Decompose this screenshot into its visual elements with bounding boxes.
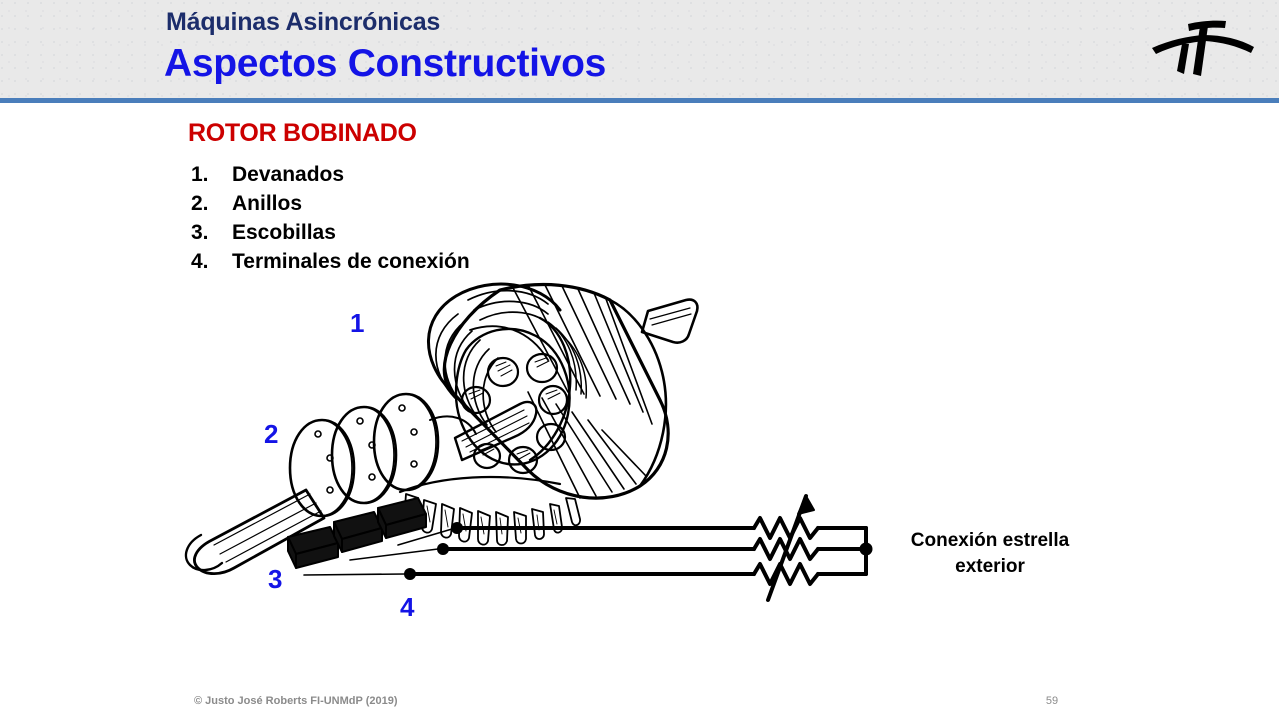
callout-4: 4: [400, 592, 414, 623]
fan-teeth: [400, 477, 580, 545]
variable-resistors: [754, 518, 818, 584]
slide-canvas: Máquinas Asincrónicas Aspectos Construct…: [0, 0, 1279, 720]
callout-3: 3: [268, 564, 282, 595]
list-item-label: Anillos: [232, 192, 302, 216]
wound-rotor-diagram: [0, 0, 1279, 720]
shaft: [186, 490, 324, 574]
list-item-label: Devanados: [232, 163, 344, 187]
ventilation-holes: [455, 329, 570, 473]
laminated-rotor-core: [444, 285, 668, 499]
section-title: ROTOR BOBINADO: [188, 119, 417, 148]
footer-copyright: © Justo José Roberts FI-UNMdP (2019): [194, 695, 398, 707]
end-windings: [428, 284, 586, 460]
rheostat-arrow: [768, 496, 814, 600]
brushes: [288, 498, 426, 568]
star-point-busbar: [818, 528, 866, 574]
tt-brushstroke-logo-icon: [1148, 14, 1258, 80]
callout-1: 1: [350, 308, 364, 339]
list-item-number: 3.: [191, 221, 221, 245]
list-item-label: Terminales de conexión: [232, 250, 470, 274]
page-title: Aspectos Constructivos: [164, 42, 606, 86]
list-item-label: Escobillas: [232, 221, 336, 245]
header-subtitle: Máquinas Asincrónicas: [166, 8, 440, 37]
list-item-number: 4.: [191, 250, 221, 274]
connection-leads: [304, 522, 754, 580]
footer-page-number: 59: [1030, 695, 1074, 707]
star-junction-dot: [860, 543, 873, 556]
slip-rings: [290, 394, 476, 516]
shaft-stub: [642, 300, 697, 343]
callout-2: 2: [264, 419, 278, 450]
connection-label-line2: exterior: [875, 554, 1105, 580]
header-divider-rule: [0, 98, 1279, 103]
list-item-number: 1.: [191, 163, 221, 187]
connection-label: Conexión estrella exterior: [875, 528, 1105, 580]
list-item-number: 2.: [191, 192, 221, 216]
connection-label-line1: Conexión estrella: [875, 528, 1105, 554]
